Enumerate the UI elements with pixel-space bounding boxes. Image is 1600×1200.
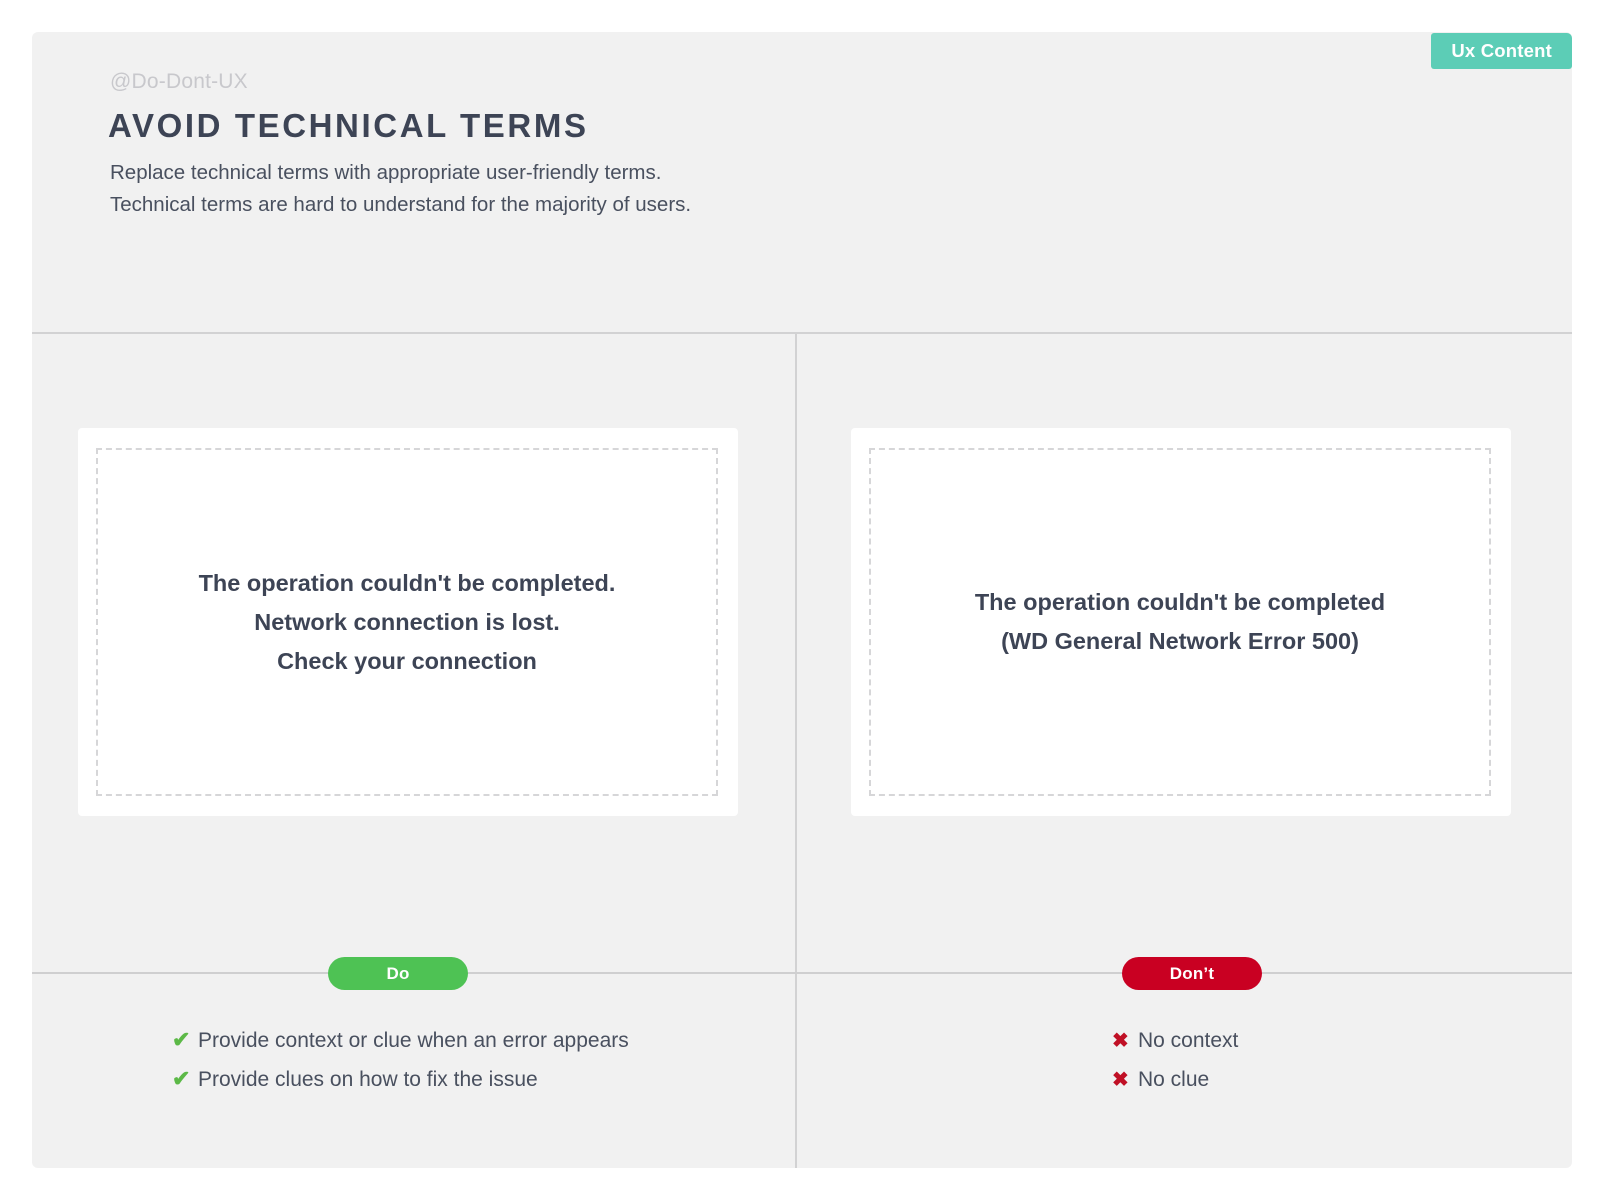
do-message-line-1: The operation couldn't be completed. [199, 564, 616, 603]
do-message-line-2: Network connection is lost. [199, 603, 616, 642]
cross-icon: ✖ [1112, 1070, 1138, 1090]
dont-message-line-2: (WD General Network Error 500) [975, 622, 1385, 661]
header-section: @Do-Dont-UX AVOID TECHNICAL TERMS Replac… [32, 32, 1572, 332]
brand-badge: Ux Content [1431, 33, 1572, 69]
list-item: ✖ No clue [1112, 1067, 1238, 1092]
do-bullet-label: Provide context or clue when an error ap… [198, 1028, 629, 1053]
check-icon: ✔ [172, 1029, 198, 1051]
do-example-card: The operation couldn't be completed. Net… [78, 428, 738, 816]
cross-icon: ✖ [1112, 1031, 1138, 1051]
subtitle-line-2: Technical terms are hard to understand f… [110, 189, 691, 221]
screenshot-root: @Do-Dont-UX AVOID TECHNICAL TERMS Replac… [0, 0, 1600, 1200]
list-item: ✖ No context [1112, 1028, 1238, 1053]
dont-badge: Don’t [1122, 957, 1262, 990]
dont-message-line-1: The operation couldn't be completed [975, 583, 1385, 622]
column-divider [795, 334, 797, 1168]
dont-bullet-label: No clue [1138, 1067, 1209, 1092]
header-divider [32, 332, 1572, 334]
list-item: ✔ Provide context or clue when an error … [172, 1028, 629, 1053]
dont-bullet-list: ✖ No context ✖ No clue [1112, 1028, 1238, 1106]
dont-example-message: The operation couldn't be completed (WD … [975, 583, 1385, 661]
page-title: AVOID TECHNICAL TERMS [108, 107, 589, 145]
verdict-divider [32, 972, 1572, 974]
do-example-message: The operation couldn't be completed. Net… [199, 564, 616, 681]
do-bullet-label: Provide clues on how to fix the issue [198, 1067, 538, 1092]
do-message-line-3: Check your connection [199, 642, 616, 681]
do-example-dashed-frame: The operation couldn't be completed. Net… [96, 448, 718, 796]
content-panel: @Do-Dont-UX AVOID TECHNICAL TERMS Replac… [32, 32, 1572, 1168]
subtitle-line-1: Replace technical terms with appropriate… [110, 157, 691, 189]
dont-example-dashed-frame: The operation couldn't be completed (WD … [869, 448, 1491, 796]
page-subtitle: Replace technical terms with appropriate… [110, 157, 691, 221]
author-handle: @Do-Dont-UX [110, 70, 248, 94]
do-bullet-list: ✔ Provide context or clue when an error … [172, 1028, 629, 1106]
do-badge: Do [328, 957, 468, 990]
dont-example-card: The operation couldn't be completed (WD … [851, 428, 1511, 816]
check-icon: ✔ [172, 1068, 198, 1090]
dont-bullet-label: No context [1138, 1028, 1238, 1053]
list-item: ✔ Provide clues on how to fix the issue [172, 1067, 629, 1092]
